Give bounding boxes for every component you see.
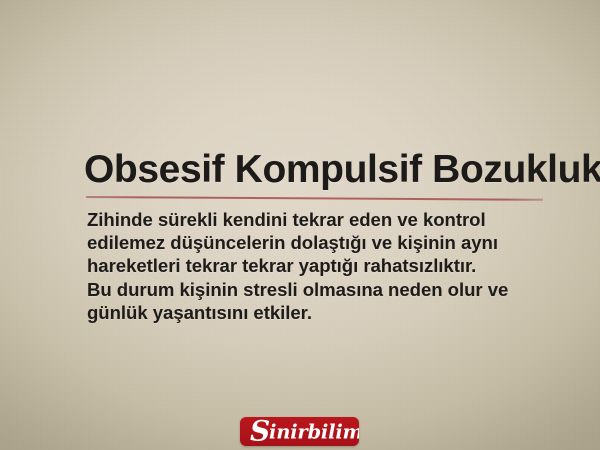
description-text: Zihinde sürekli kendini tekrar eden ve k…	[87, 208, 517, 324]
sinirbilim-logo-badge: Sinirbilim	[240, 417, 359, 446]
description-line: Bu durum kişinin stresli olmasına neden …	[87, 278, 517, 301]
description-line: Zihinde sürekli kendini tekrar eden ve k…	[87, 208, 517, 231]
title-divider	[86, 196, 543, 201]
description-line: günlük yaşantısını etkiler.	[87, 301, 517, 324]
description-line: hareketleri tekrar tekrar yaptığı rahats…	[87, 254, 517, 277]
description-line: edilemez düşüncelerin dolaştığı ve kişin…	[87, 231, 517, 254]
logo-rest: inirbilim	[269, 420, 359, 443]
wall-poster: Obsesif Kompulsif Bozukluk Zihinde sürek…	[0, 0, 600, 450]
poster-content: Obsesif Kompulsif Bozukluk Zihinde sürek…	[0, 0, 600, 450]
logo-wordmark: Sinirbilim	[250, 422, 359, 442]
logo-initial: S	[250, 417, 270, 446]
page-title: Obsesif Kompulsif Bozukluk	[84, 148, 600, 192]
